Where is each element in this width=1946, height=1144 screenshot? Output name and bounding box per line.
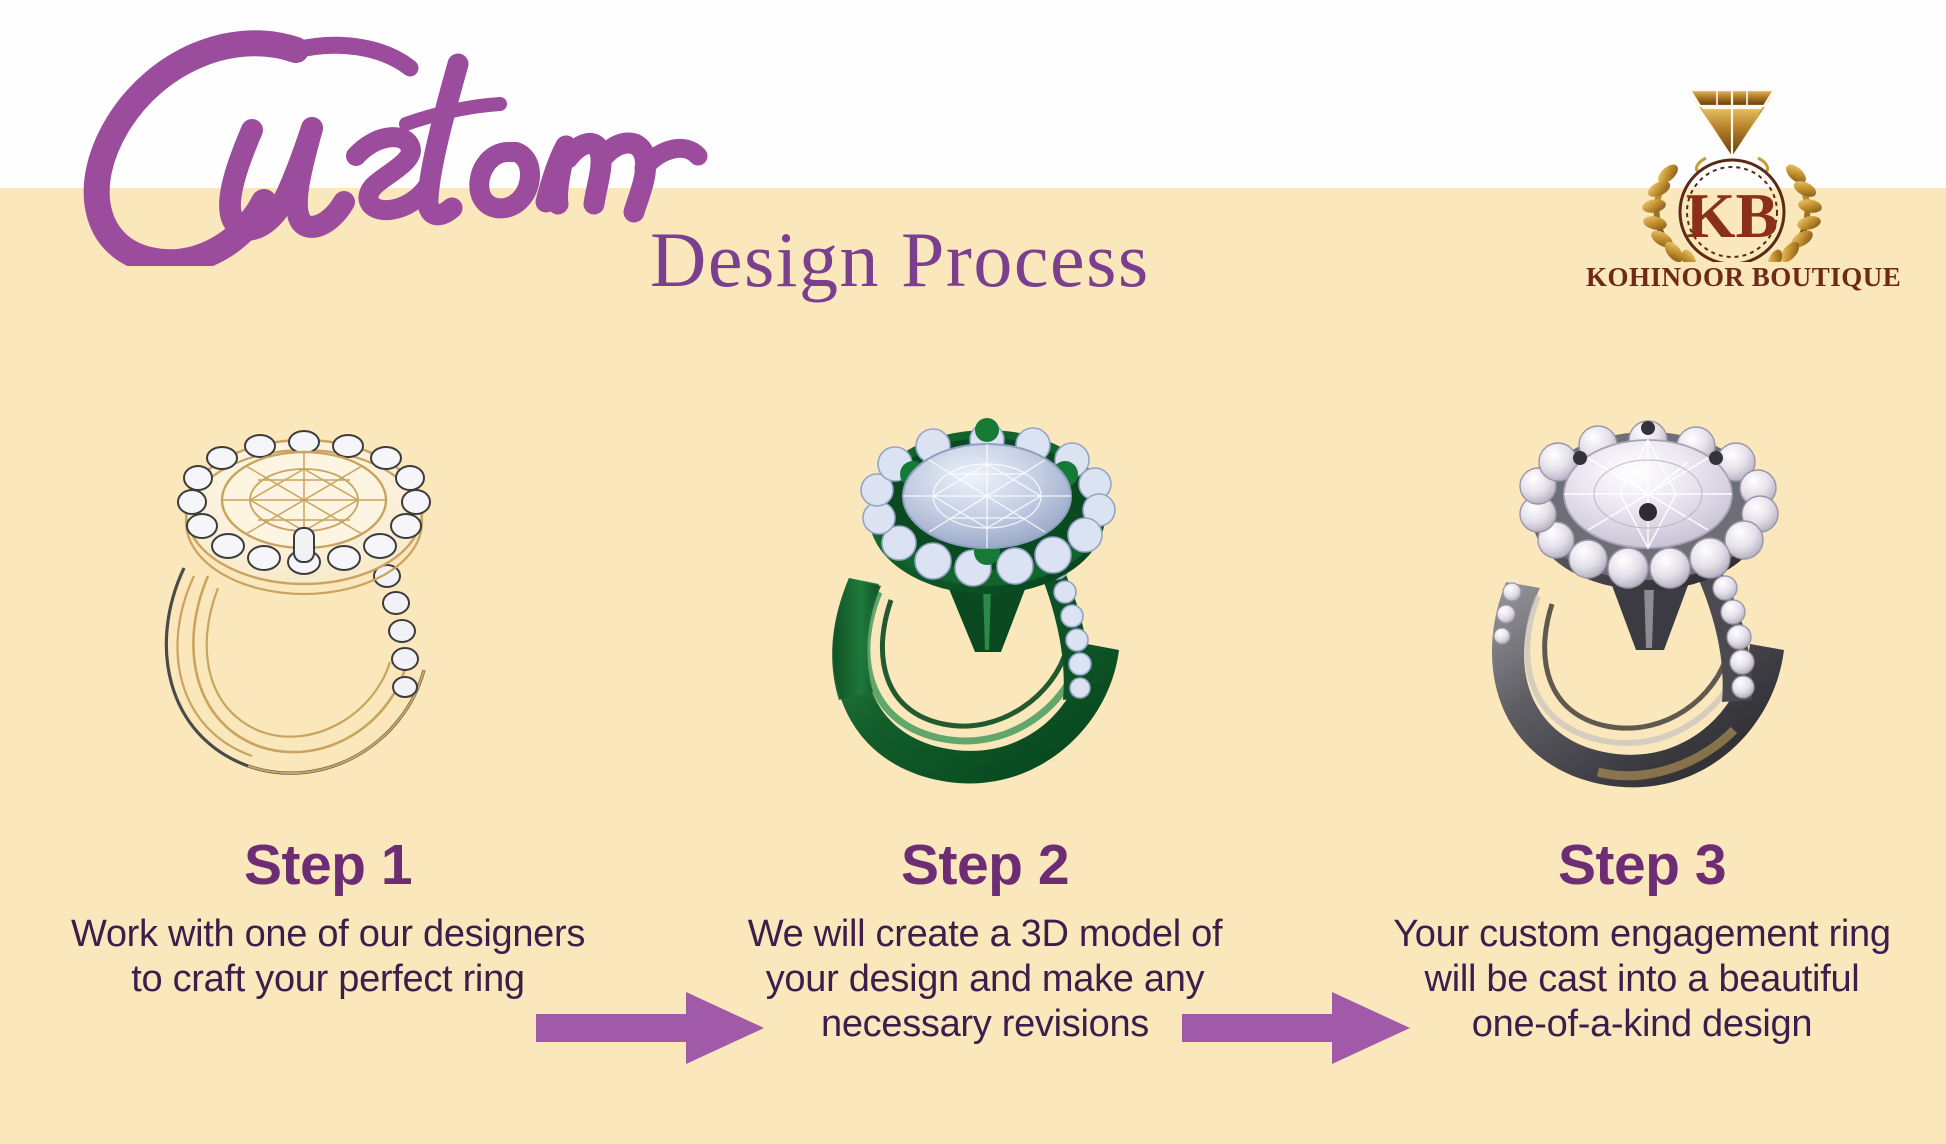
brand-logo[interactable]: KB KOHINOOR BOUTIQUE	[1586, 62, 1878, 314]
diamond-ring-laurel-monogram-icon: KB	[1632, 62, 1832, 262]
ring-sketch-illustration	[108, 400, 508, 800]
step-2-heading: Step 2	[655, 832, 1315, 898]
step-1-line-1: Work with one of our designers	[0, 912, 658, 957]
custom-design-process-banner: Design Process	[0, 0, 1946, 1144]
step-2-line-1: We will create a 3D model of	[655, 912, 1315, 957]
step-1-heading: Step 1	[0, 832, 658, 898]
ring-3d-cad-model	[787, 400, 1187, 800]
step-3-line-1: Your custom engagement ring	[1312, 912, 1946, 957]
monogram-text: KB	[1686, 180, 1778, 251]
script-title-custom	[38, 6, 738, 266]
arrow-right-icon	[1182, 992, 1410, 1064]
ring-finished-photo	[1448, 400, 1848, 800]
process-step-rail: Step 1 Work with one of our designers to…	[0, 400, 1946, 1144]
subtitle-design-process: Design Process	[650, 215, 1150, 305]
headline: Design Process	[0, 0, 1330, 330]
brand-wordmark: KOHINOOR BOUTIQUE	[1586, 262, 1878, 293]
step-3-heading: Step 3	[1312, 832, 1946, 898]
arrow-right-icon	[536, 992, 764, 1064]
step-1-description: Work with one of our designers to craft …	[0, 912, 658, 1002]
